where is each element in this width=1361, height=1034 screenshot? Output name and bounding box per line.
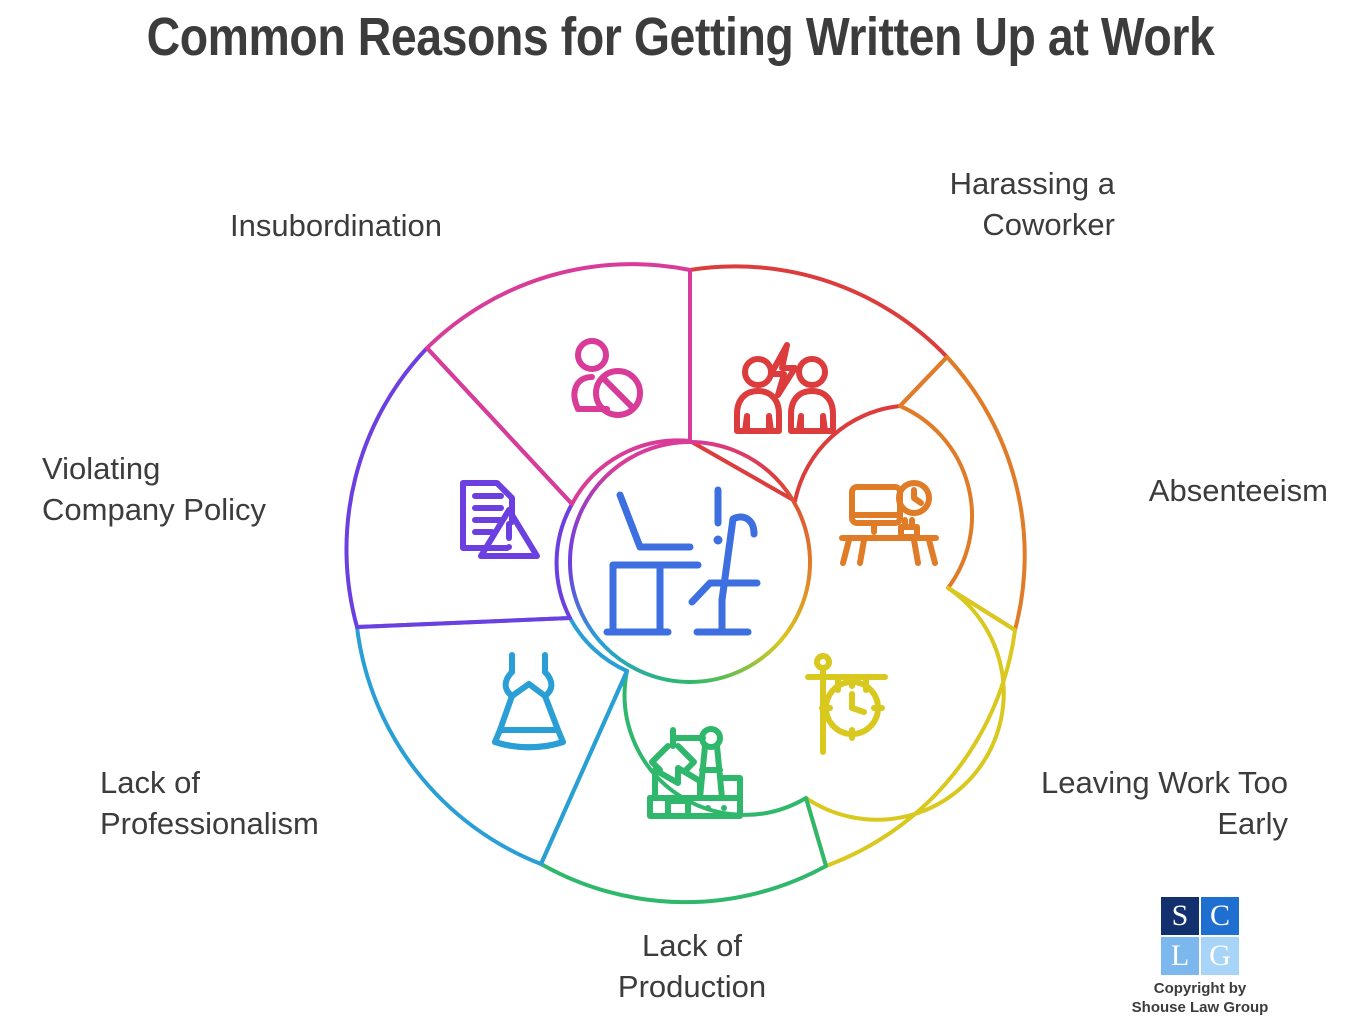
petal-lack-of-production[interactable]	[541, 671, 826, 902]
logo-cell-c: C	[1201, 897, 1239, 935]
logo-cell-g: G	[1201, 937, 1239, 975]
label-harassing-a-coworker: Harassing a Coworker	[835, 163, 1115, 245]
label-lack-of-professionalism: Lack of Professionalism	[100, 762, 430, 844]
petal-violating-company-policy[interactable]	[346, 348, 572, 627]
person-prohibited-icon	[574, 341, 640, 415]
sclg-logo-mark: S C L G	[1161, 897, 1239, 975]
hanging-clock-sign-icon	[808, 656, 885, 752]
logo-block: S C L G Copyright by Shouse Law Group	[1100, 897, 1300, 1018]
label-violating-company-policy: Violating Company Policy	[42, 448, 352, 530]
dress-icon	[495, 655, 563, 747]
logo-copyright-caption: Copyright by Shouse Law Group	[1100, 980, 1300, 1018]
petal-absenteeism[interactable]	[900, 357, 1025, 630]
label-leaving-work-too-early: Leaving Work Too Early	[958, 762, 1288, 844]
logo-cell-l: L	[1161, 937, 1199, 975]
label-lack-of-production: Lack of Production	[552, 925, 832, 1007]
document-warning-icon	[463, 483, 537, 556]
logo-cell-s: S	[1161, 897, 1199, 935]
office-desk-warning-icon	[607, 490, 757, 632]
label-insubordination: Insubordination	[230, 205, 550, 246]
two-people-conflict-icon	[737, 345, 833, 431]
petal-insubordination[interactable]	[427, 264, 690, 504]
label-absenteeism: Absenteeism	[1028, 470, 1328, 511]
empty-desk-clock-icon	[842, 483, 936, 563]
